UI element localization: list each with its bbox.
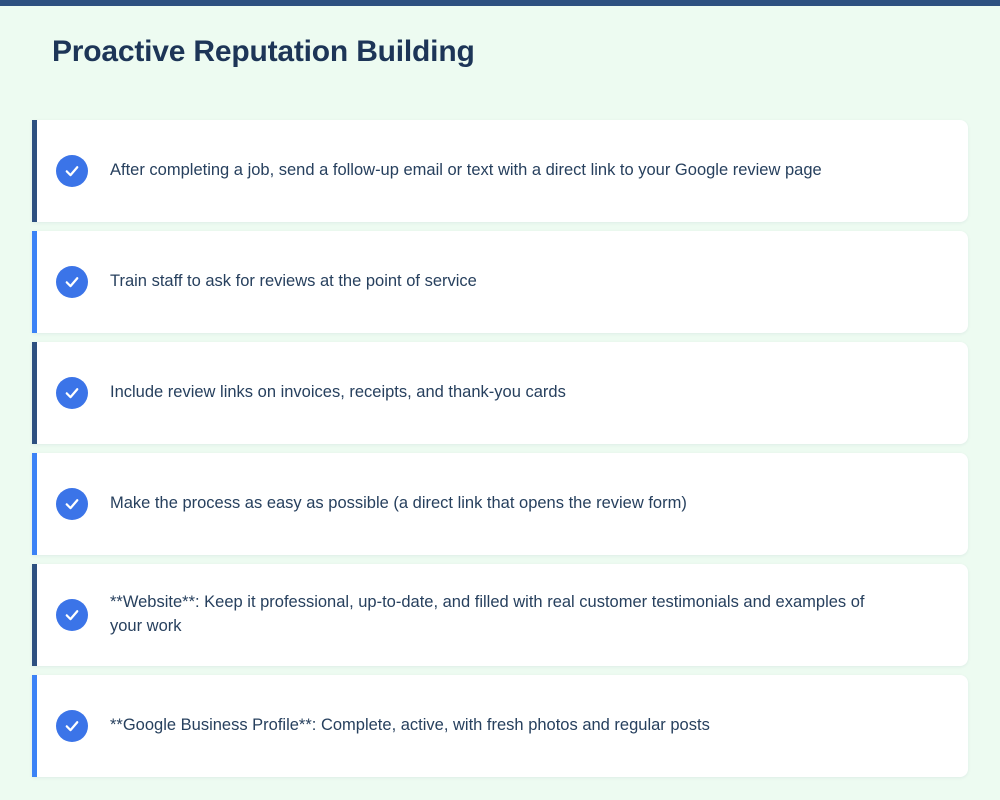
check-circle-icon [56, 155, 88, 187]
list-item-label: Include review links on invoices, receip… [110, 381, 900, 405]
list-item[interactable]: Train staff to ask for reviews at the po… [32, 231, 968, 333]
check-circle-icon [56, 710, 88, 742]
list-item[interactable]: **Google Business Profile**: Complete, a… [32, 675, 968, 777]
list-item[interactable]: Include review links on invoices, receip… [32, 342, 968, 444]
slide-canvas: Proactive Reputation Building After comp… [0, 6, 1000, 800]
page-title: Proactive Reputation Building [52, 34, 475, 70]
list-item-label: Make the process as easy as possible (a … [110, 492, 900, 516]
check-circle-icon [56, 599, 88, 631]
check-circle-icon [56, 266, 88, 298]
check-circle-icon [56, 488, 88, 520]
list-item-label: **Google Business Profile**: Complete, a… [110, 714, 900, 738]
check-circle-icon [56, 377, 88, 409]
list-item-label: Train staff to ask for reviews at the po… [110, 270, 900, 294]
list-item[interactable]: **Website**: Keep it professional, up-to… [32, 564, 968, 666]
list-item[interactable]: After completing a job, send a follow-up… [32, 120, 968, 222]
checklist: After completing a job, send a follow-up… [32, 120, 968, 777]
list-item-label: After completing a job, send a follow-up… [110, 159, 900, 183]
list-item-label: **Website**: Keep it professional, up-to… [110, 591, 900, 639]
list-item[interactable]: Make the process as easy as possible (a … [32, 453, 968, 555]
